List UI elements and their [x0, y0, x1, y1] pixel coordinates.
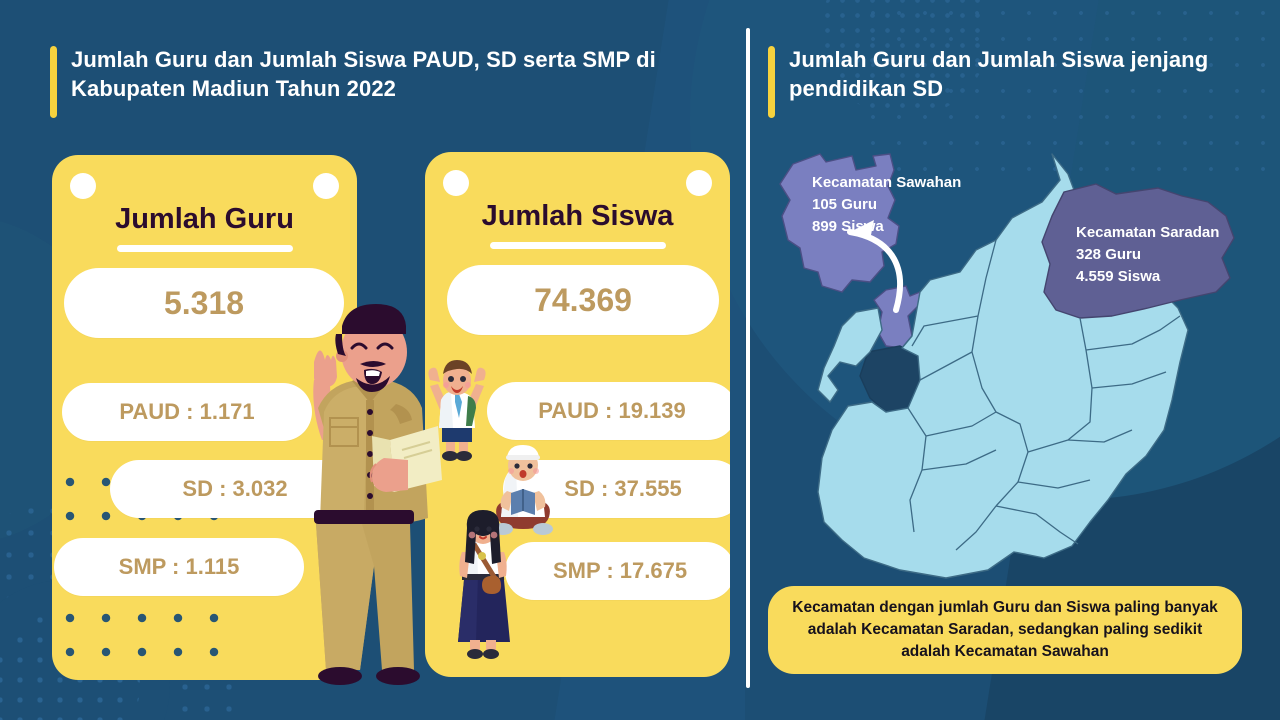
accent-bar-icon	[50, 46, 57, 118]
card-underline	[490, 242, 666, 249]
guru-smp-row: SMP : 1.115	[54, 538, 304, 596]
punch-hole-left-icon	[70, 173, 96, 199]
punch-hole-right-icon	[686, 170, 712, 196]
guru-paud-row: PAUD : 1.171	[62, 383, 312, 441]
map-label-sawahan-students: 899 Siswa	[812, 216, 961, 238]
map-label-saradan-district: Kecamatan Saradan	[1076, 222, 1219, 244]
map-label-sawahan: Kecamatan Sawahan 105 Guru 899 Siswa	[812, 172, 961, 237]
right-panel-title: Jumlah Guru dan Jumlah Siswa jenjang pen…	[789, 46, 1239, 103]
map-label-sawahan-teachers: 105 Guru	[812, 194, 961, 216]
student-smp-illustration	[452, 508, 514, 668]
left-panel-title: Jumlah Guru dan Jumlah Siswa PAUD, SD se…	[71, 46, 731, 103]
map-caption: Kecamatan dengan jumlah Guru dan Siswa p…	[768, 586, 1242, 674]
punch-hole-right-icon	[313, 173, 339, 199]
left-panel-header: Jumlah Guru dan Jumlah Siswa PAUD, SD se…	[50, 46, 731, 118]
punch-hole-left-icon	[443, 170, 469, 196]
siswa-paud-row: PAUD : 19.139	[487, 382, 730, 440]
map-label-saradan-students: 4.559 Siswa	[1076, 266, 1219, 288]
right-panel-header: Jumlah Guru dan Jumlah Siswa jenjang pen…	[768, 46, 1239, 118]
card-underline	[117, 245, 293, 252]
infographic-canvas: Jumlah Guru dan Jumlah Siswa PAUD, SD se…	[0, 0, 1280, 720]
siswa-smp-row: SMP : 17.675	[505, 542, 730, 600]
map-label-saradan: Kecamatan Saradan 328 Guru 4.559 Siswa	[1076, 222, 1219, 287]
card-heading-siswa: Jumlah Siswa	[425, 200, 730, 233]
siswa-total-value: 74.369	[447, 265, 719, 335]
panel-divider	[746, 28, 750, 688]
map-label-sawahan-district: Kecamatan Sawahan	[812, 172, 961, 194]
accent-bar-icon	[768, 46, 775, 118]
map-label-saradan-teachers: 328 Guru	[1076, 244, 1219, 266]
student-paud-illustration	[424, 358, 490, 468]
card-heading-guru: Jumlah Guru	[52, 203, 357, 236]
